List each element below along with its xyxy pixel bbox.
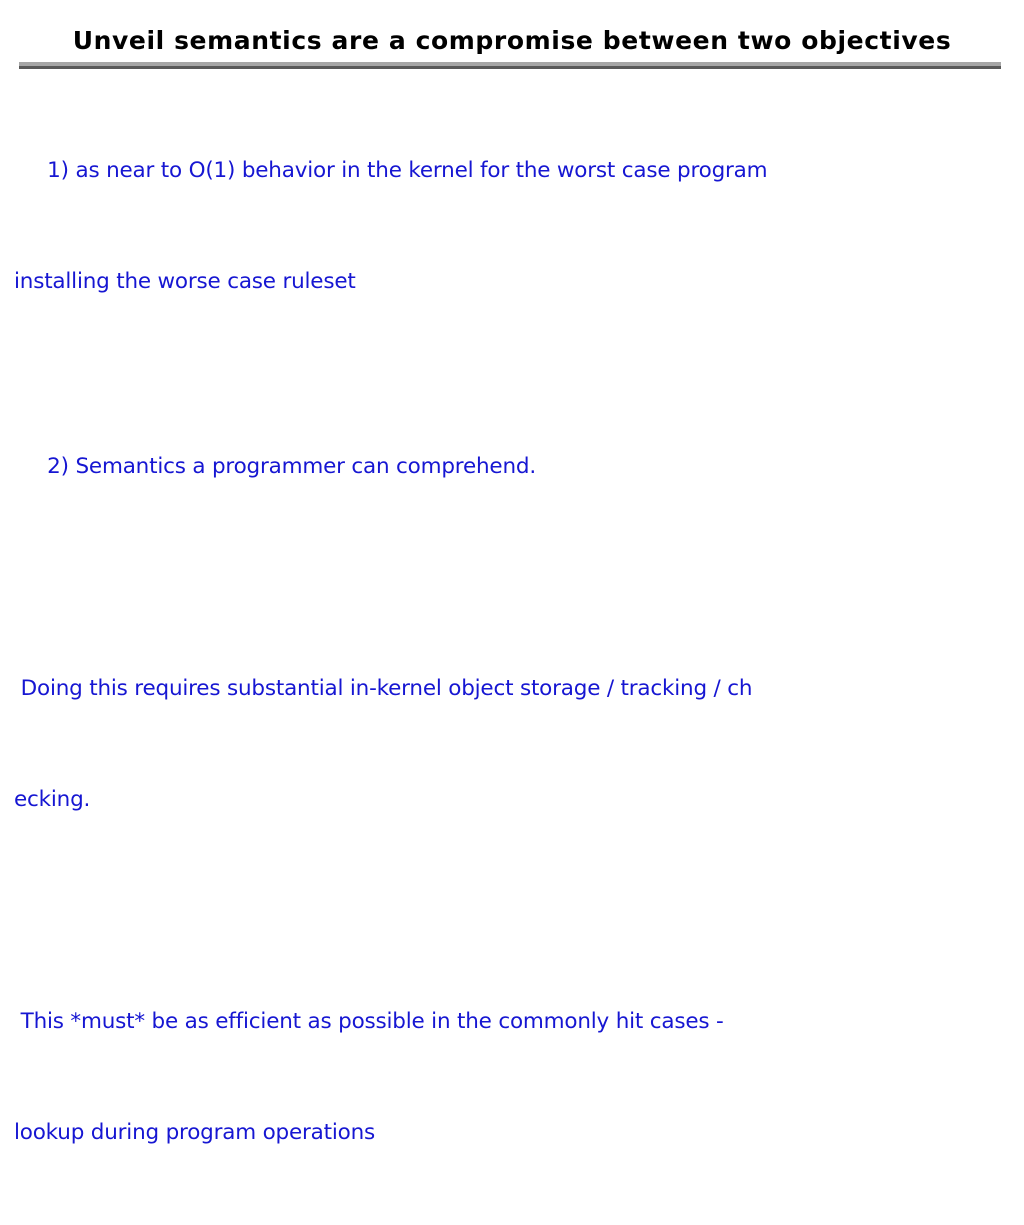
divider-dark-rule	[19, 66, 1001, 69]
body-line: 1) as near to O(1) behavior in the kerne…	[14, 152, 1010, 189]
slide-body: 1) as near to O(1) behavior in the kerne…	[14, 78, 1010, 1225]
body-line: 2) Semantics a programmer can comprehend…	[14, 448, 1010, 485]
body-line: This *must* be as efficient as possible …	[14, 1003, 1010, 1040]
body-line: installing the worse case ruleset	[14, 263, 1010, 300]
slide-canvas: Unveil semantics are a compromise betwee…	[0, 0, 1024, 768]
title-divider	[19, 62, 1001, 69]
page-title: Unveil semantics are a compromise betwee…	[73, 26, 952, 56]
body-line: lookup during program operations	[14, 1114, 1010, 1151]
body-line: ecking.	[14, 781, 1010, 818]
paragraph-objective-2: 2) Semantics a programmer can comprehend…	[14, 374, 1010, 559]
paragraph-objective-1: 1) as near to O(1) behavior in the kerne…	[14, 78, 1010, 374]
title-block: Unveil semantics are a compromise betwee…	[0, 26, 1024, 56]
body-line: Doing this requires substantial in-kerne…	[14, 670, 1010, 707]
paragraph-in-kernel-requirements: Doing this requires substantial in-kerne…	[14, 596, 1010, 892]
paragraph-efficiency-requirement: This *must* be as efficient as possible …	[14, 929, 1010, 1225]
